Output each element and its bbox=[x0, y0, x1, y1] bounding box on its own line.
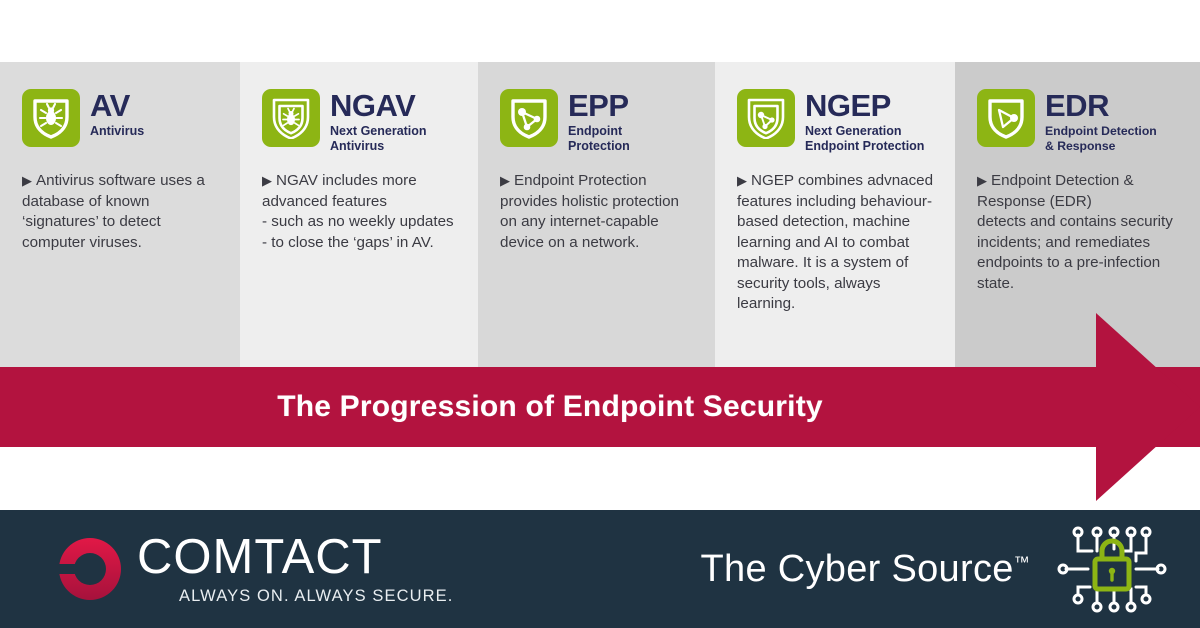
stage-panel-ngep: NGEP Next Generation Endpoint Protection… bbox=[715, 62, 955, 367]
stage-acronym-ngep: NGEP bbox=[805, 90, 924, 121]
stage-header-ngep: NGEP Next Generation Endpoint Protection bbox=[737, 89, 937, 161]
stage-title-block-epp: EPP Endpoint Protection bbox=[568, 89, 630, 153]
stage-panel-ngav: NGAV Next Generation Antivirus ▶NGAV inc… bbox=[240, 62, 478, 367]
cyber-source-block: The Cyber Source™ bbox=[701, 513, 1172, 625]
trademark-symbol: ™ bbox=[1014, 554, 1030, 571]
stage-header-edr: EDR Endpoint Detection & Response bbox=[977, 89, 1182, 161]
bullet-icon-av: ▶ bbox=[22, 173, 32, 188]
stage-acronym-av: AV bbox=[90, 90, 144, 121]
bullet-icon-ngav: ▶ bbox=[262, 173, 272, 188]
shield-network-icon bbox=[500, 89, 558, 147]
stage-description-ngav: ▶NGAV includes more advanced features - … bbox=[262, 171, 460, 253]
banner-title: The Progression of Endpoint Security bbox=[0, 367, 1100, 447]
bullet-icon-epp: ▶ bbox=[500, 173, 510, 188]
stage-title-block-edr: EDR Endpoint Detection & Response bbox=[1045, 89, 1157, 153]
stage-description-text-av: Antivirus software uses a database of kn… bbox=[22, 172, 205, 251]
shield-bug-icon bbox=[22, 89, 80, 147]
stage-expansion-ngav: Next Generation Antivirus bbox=[330, 124, 427, 153]
comtact-logo: COMTACT ALWAYS ON. ALWAYS SECURE. bbox=[57, 533, 453, 605]
stage-title-block-av: AV Antivirus bbox=[90, 89, 144, 139]
stage-description-text-edr: Endpoint Detection & Response (EDR) dete… bbox=[977, 172, 1173, 292]
stage-expansion-edr: Endpoint Detection & Response bbox=[1045, 124, 1157, 153]
stage-acronym-ngav: NGAV bbox=[330, 90, 427, 121]
stage-panel-strip: AV Antivirus ▶Antivirus software uses a … bbox=[0, 62, 1200, 367]
stage-description-av: ▶Antivirus software uses a database of k… bbox=[22, 171, 222, 253]
stage-expansion-ngep: Next Generation Endpoint Protection bbox=[805, 124, 924, 153]
bullet-icon-edr: ▶ bbox=[977, 173, 987, 188]
cyber-source-strapline: The Cyber Source™ bbox=[701, 549, 1030, 589]
stage-header-epp: EPP Endpoint Protection bbox=[500, 89, 697, 161]
comtact-brand-name: COMTACT bbox=[137, 533, 453, 582]
comtact-c-mark-icon bbox=[57, 536, 123, 602]
stage-expansion-av: Antivirus bbox=[90, 124, 144, 139]
stage-title-block-ngep: NGEP Next Generation Endpoint Protection bbox=[805, 89, 924, 153]
stage-description-edr: ▶Endpoint Detection & Response (EDR) det… bbox=[977, 171, 1182, 294]
comtact-tagline: ALWAYS ON. ALWAYS SECURE. bbox=[179, 587, 453, 605]
stage-description-text-ngep: NGEP combines advnaced features includin… bbox=[737, 172, 933, 312]
stage-title-block-ngav: NGAV Next Generation Antivirus bbox=[330, 89, 427, 153]
stage-description-epp: ▶Endpoint Protection provides holistic p… bbox=[500, 171, 697, 253]
stage-panel-av: AV Antivirus ▶Antivirus software uses a … bbox=[0, 62, 240, 367]
cyber-source-text: The Cyber Source bbox=[701, 548, 1014, 590]
progression-banner: The Progression of Endpoint Security bbox=[0, 367, 1200, 447]
bullet-icon-ngep: ▶ bbox=[737, 173, 747, 188]
stage-description-text-epp: Endpoint Protection provides holistic pr… bbox=[500, 172, 679, 251]
stage-description-text-ngav: NGAV includes more advanced features - s… bbox=[262, 172, 454, 251]
stage-expansion-epp: Endpoint Protection bbox=[568, 124, 630, 153]
double-shield-network-icon bbox=[737, 89, 795, 147]
stage-description-ngep: ▶NGEP combines advnaced features includi… bbox=[737, 171, 937, 315]
stage-acronym-edr: EDR bbox=[1045, 90, 1157, 121]
circuit-padlock-icon bbox=[1052, 513, 1172, 625]
stage-panel-epp: EPP Endpoint Protection ▶Endpoint Protec… bbox=[478, 62, 715, 367]
stage-header-ngav: NGAV Next Generation Antivirus bbox=[262, 89, 460, 161]
comtact-wordmark: COMTACT ALWAYS ON. ALWAYS SECURE. bbox=[137, 533, 453, 605]
footer-bar: COMTACT ALWAYS ON. ALWAYS SECURE. The Cy… bbox=[0, 510, 1200, 628]
stage-header-av: AV Antivirus bbox=[22, 89, 222, 161]
right-arrow-banner-icon bbox=[1096, 313, 1200, 501]
shield-play-node-icon bbox=[977, 89, 1035, 147]
stage-acronym-epp: EPP bbox=[568, 90, 630, 121]
double-shield-bug-icon bbox=[262, 89, 320, 147]
